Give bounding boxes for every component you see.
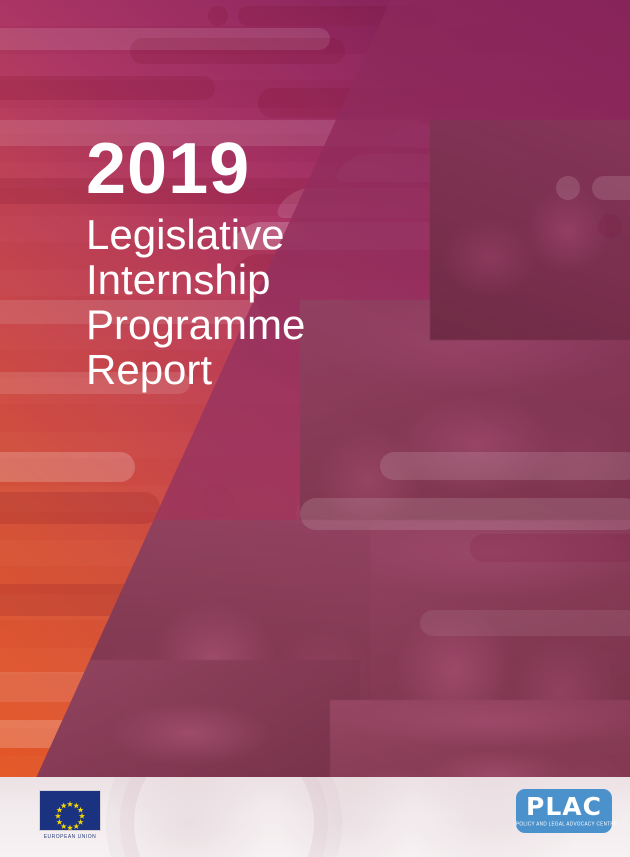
plac-wordmark: PLAC — [516, 794, 612, 819]
eu-flag-icon — [39, 790, 101, 831]
title-line-4: Report — [86, 347, 416, 392]
title-line-1: Legislative — [86, 212, 416, 257]
eu-caption: EUROPEAN UNION — [39, 834, 101, 840]
title-block: 2019 Legislative Internship Programme Re… — [86, 132, 416, 392]
plac-tagline: POLICY AND LEGAL ADVOCACY CENTRE — [516, 820, 612, 828]
cover-year: 2019 — [86, 132, 416, 206]
report-cover: 2019 Legislative Internship Programme Re… — [0, 0, 630, 857]
footer-ring-graphic — [120, 777, 328, 857]
footer-bar: EUROPEAN UNION PLAC POLICY AND LEGAL ADV… — [0, 777, 630, 857]
title-line-3: Programme — [86, 302, 416, 347]
eu-stars — [40, 791, 100, 831]
eu-logo: EUROPEAN UNION — [39, 790, 101, 840]
plac-logo: PLAC POLICY AND LEGAL ADVOCACY CENTRE — [516, 789, 612, 833]
title-line-2: Internship — [86, 257, 416, 302]
cover-title: Legislative Internship Programme Report — [86, 212, 416, 392]
